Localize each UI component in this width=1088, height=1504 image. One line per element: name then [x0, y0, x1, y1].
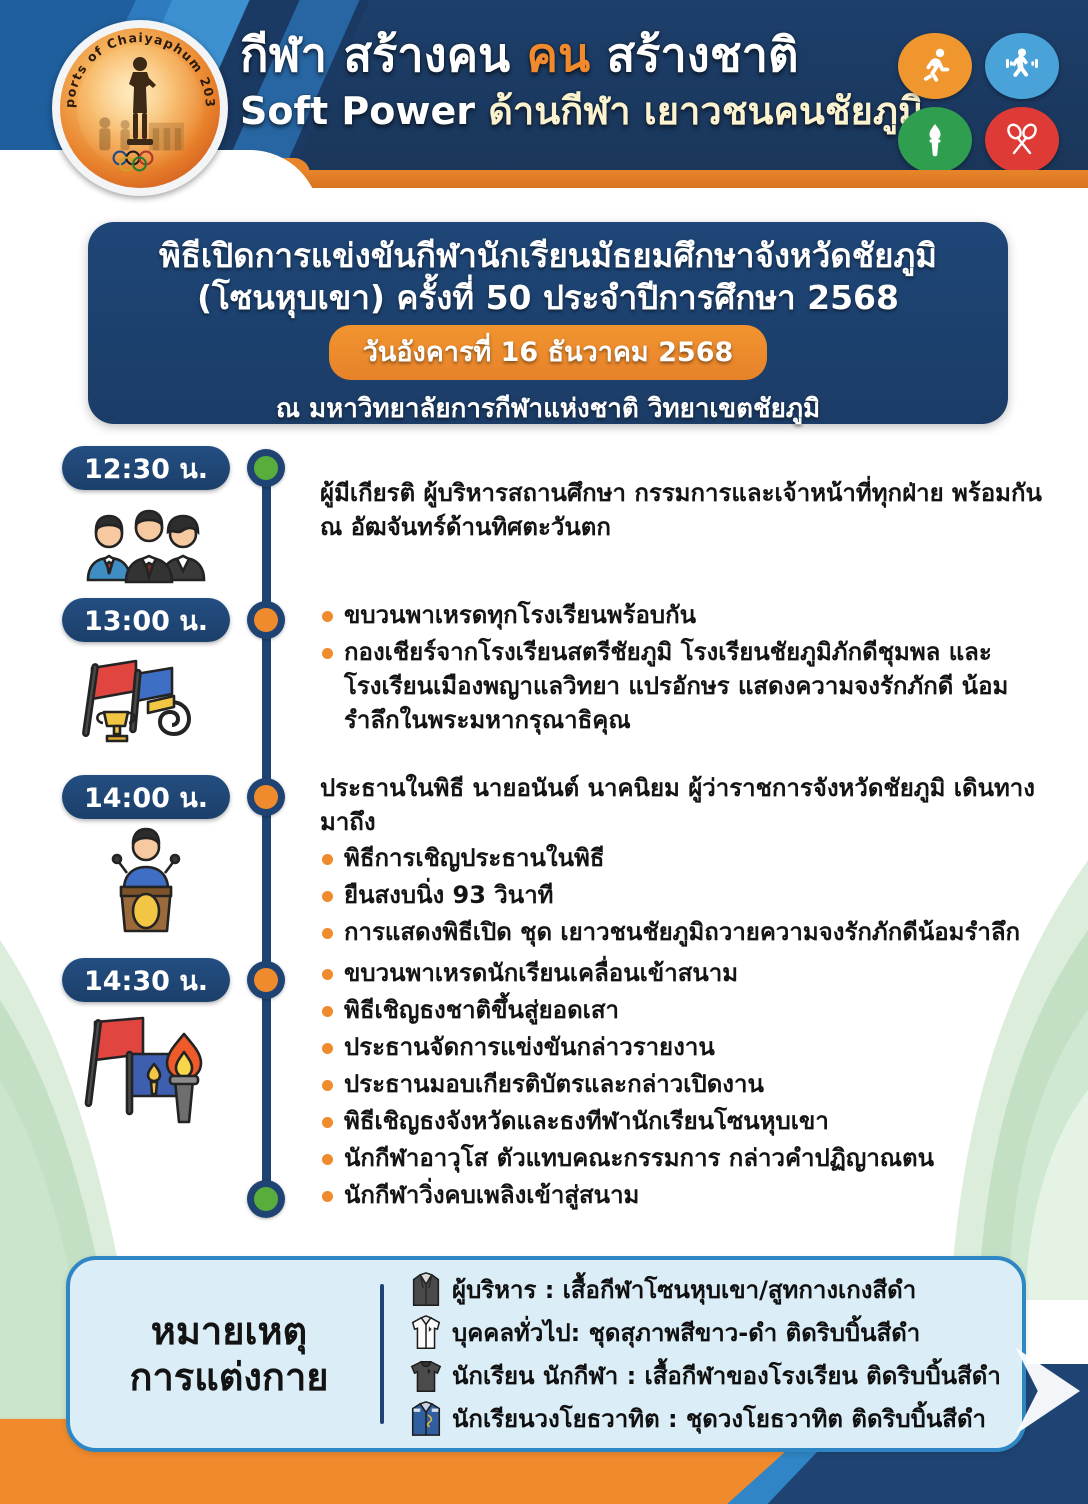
timeline-content: ขบวนพาเหรดทุกโรงเรียนพร้อบกัน กองเชียร์จ… — [320, 596, 1060, 740]
timeline-time-badge: 13:00 น. — [62, 598, 230, 642]
dress-code-text: บุคคลทั่วไป: ชุดสุภาพสีขาว-ดำ ติดริบบิ้น… — [452, 1313, 920, 1352]
badminton-rackets-icon — [985, 107, 1059, 173]
timeline-bullet-list: ขบวนพาเหรดทุกโรงเรียนพร้อบกัน กองเชียร์จ… — [320, 598, 1060, 737]
emblem-ring-text: Sports of Chaiyaphum 2033 — [56, 24, 224, 192]
flags-torch-icon — [62, 1010, 230, 1130]
svg-text:Sports of Chaiyaphum 2033: Sports of Chaiyaphum 2033 — [56, 24, 218, 109]
list-item: นักเรียน นักกีฬา : เสื้อกีฬาของโรงเรียน … — [400, 1354, 1022, 1397]
torch-icon — [898, 107, 972, 173]
event-title-line-1: พิธีเปิดการแข่งขันกีฬานักเรียนมัธยมศึกษา… — [159, 235, 937, 277]
dress-code-list: ผู้บริหาร : เสื้อกีฬาโซนหุบเขา/สูทกางเกง… — [384, 1268, 1022, 1440]
slogan-line-1-part-1: กีฬา สร้างคน — [240, 28, 527, 83]
timeline-time-badge: 12:30 น. — [62, 446, 230, 490]
event-title-line-2: (โซนหุบเขา) ครั้งที่ 50 ประจำปีการศึกษา … — [197, 277, 899, 319]
timeline-time-badge: 14:30 น. — [62, 958, 230, 1002]
list-item: ประธานมอบเกียรติบัตรและกล่าวเปิดงาน — [320, 1067, 1060, 1101]
suit-jacket-icon — [400, 1271, 452, 1309]
timeline-content: ขบวนพาเหรดนักเรียนเคลื่อนเข้าสนาม พิธีเช… — [320, 954, 1060, 1216]
slogan-line-2-thai: ด้านกีฬา เยาวชนคนชัยภูมิ — [488, 89, 923, 133]
list-item: พิธีการเชิญประธานในพิธี — [320, 841, 1060, 875]
slogan-line-2-english: Soft Power — [240, 89, 488, 133]
chaiyaphum-sports-emblem: Sports of Chaiyaphum 2033 — [52, 20, 228, 196]
weightlifting-icon — [985, 33, 1059, 99]
list-item: ยืนสงบนิ่ง 93 วินาที — [320, 878, 1060, 912]
list-item: นักเรียนวงโยธวาทิต : ชุดวงโยธวาทิต ติดริ… — [400, 1397, 1022, 1440]
timeline-bullet-list: พิธีการเชิญประธานในพิธี ยืนสงบนิ่ง 93 วิ… — [320, 841, 1060, 949]
list-item: กองเชียร์จากโรงเรียนสตรีชัยภูมิ โรงเรียน… — [320, 635, 1060, 737]
list-item: ประธานจัดการแข่งขันกล่าวรายงาน — [320, 1030, 1060, 1064]
podium-speaker-icon — [62, 827, 230, 937]
timeline-node-marker — [247, 778, 285, 816]
list-item: นักกีฬาอาวุโส ตัวแทบคณะกรรมการ กล่าวคำปฏ… — [320, 1141, 1060, 1175]
event-venue: ณ มหาวิทยาลัยการกีฬาแห่งชาติ วิทยาเขตชัย… — [276, 388, 820, 429]
timeline-content: ผู้มีเกียรติ ผู้บริหารสถานศึกษา กรรมการแ… — [320, 476, 1060, 544]
slogan-line-1: กีฬา สร้างคน คน สร้างชาติ — [240, 28, 900, 83]
timeline-node-marker — [247, 449, 285, 487]
slogan-line-1-part-2: สร้างชาติ — [590, 28, 798, 83]
dress-code-title-line-1: หมายเหตุ — [78, 1308, 380, 1354]
list-item: ขบวนพาเหรดทุกโรงเรียนพร้อบกัน — [320, 598, 1060, 632]
band-uniform-icon — [400, 1400, 452, 1438]
list-item: ผู้บริหาร : เสื้อกีฬาโซนหุบเขา/สูทกางเกง… — [400, 1268, 1022, 1311]
dress-code-title: หมายเหตุ การแต่งกาย — [70, 1308, 380, 1401]
timeline-end-marker — [247, 1180, 285, 1218]
list-item: พิธีเชิญธงจังหวัดและธงทีฬานักเรียนโซนหุบ… — [320, 1104, 1060, 1138]
list-item: พิธีเชิญธงชาติขึ้นสู่ยอดเสา — [320, 993, 1060, 1027]
timeline-node-marker — [247, 601, 285, 639]
timeline-bullet-list: ขบวนพาเหรดนักเรียนเคลื่อนเข้าสนาม พิธีเช… — [320, 956, 1060, 1213]
timeline-spine — [262, 452, 271, 1210]
sport-icon-group — [898, 33, 1066, 175]
header-slogan: กีฬา สร้างคน คน สร้างชาติ Soft Power ด้า… — [240, 28, 900, 135]
poster-root: กีฬา สร้างคน คน สร้างชาติ Soft Power ด้า… — [0, 0, 1088, 1504]
list-item: บุคคลทั่วไป: ชุดสุภาพสีขาว-ดำ ติดริบบิ้น… — [400, 1311, 1022, 1354]
timeline-lead-text: ประธานในพิธี นายอนันต์ นาคนิยม ผู้ว่าราช… — [320, 771, 1060, 839]
white-shirt-icon — [400, 1314, 452, 1352]
emblem-ring-label: Sports of Chaiyaphum 2033 — [56, 24, 218, 109]
dress-code-text: ผู้บริหาร : เสื้อกีฬาโซนหุบเขา/สูทกางเกง… — [452, 1270, 916, 1309]
dress-code-text: นักเรียน นักกีฬา : เสื้อกีฬาของโรงเรียน … — [452, 1356, 1001, 1395]
slogan-line-2: Soft Power ด้านกีฬา เยาวชนคนชัยภูมิ — [240, 89, 900, 135]
dress-code-card: หมายเหตุ การแต่งกาย ผู้บริหาร : เสื้อกีฬ… — [66, 1256, 1026, 1452]
three-officials-icon — [62, 498, 230, 584]
list-item: นักกีฬาวิ่งคบเพลิงเข้าสู่สนาม — [320, 1178, 1060, 1212]
running-icon — [898, 33, 972, 99]
dress-code-text: นักเรียนวงโยธวาทิต : ชุดวงโยธวาทิต ติดริ… — [452, 1399, 986, 1438]
list-item: ขบวนพาเหรดนักเรียนเคลื่อนเข้าสนาม — [320, 956, 1060, 990]
timeline-content: ประธานในพิธี นายอนันต์ นาคนิยม ผู้ว่าราช… — [320, 771, 1060, 952]
timeline-lead-text: ผู้มีเกียรติ ผู้บริหารสถานศึกษา กรรมการแ… — [320, 476, 1060, 544]
list-item: การแสดงพิธีเปิด ชุด เยาวชนชัยภูมิถวายควา… — [320, 915, 1060, 949]
event-title-card: พิธีเปิดการแข่งขันกีฬานักเรียนมัธยมศึกษา… — [88, 222, 1008, 424]
schedule-timeline: 12:30 น. — [0, 440, 1088, 1240]
flags-trophy-band-icon — [62, 650, 230, 760]
slogan-line-1-accent: คน — [527, 28, 591, 83]
timeline-time-badge: 14:00 น. — [62, 775, 230, 819]
event-date-badge: วันอังคารที่ 16 ธันวาคม 2568 — [329, 325, 768, 380]
dress-code-title-line-2: การแต่งกาย — [78, 1354, 380, 1400]
timeline-node-marker — [247, 961, 285, 999]
dark-tshirt-icon — [400, 1357, 452, 1395]
